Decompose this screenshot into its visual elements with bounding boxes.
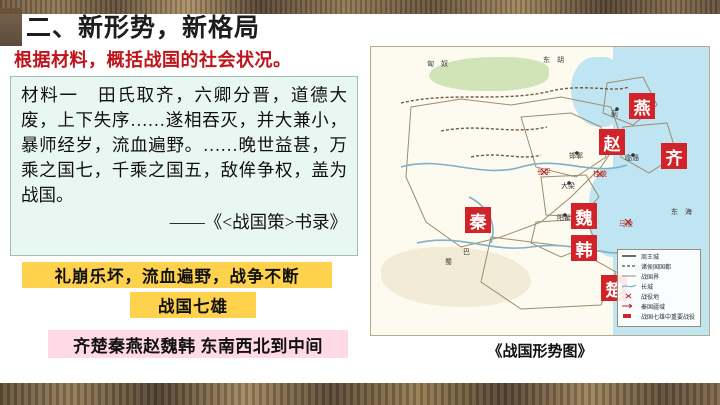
legend-row: 战国界 xyxy=(622,273,696,282)
material-source: ——《<战国策>书录》 xyxy=(21,210,347,235)
legend-label: 周王城 xyxy=(641,254,659,262)
legend-key-box-icon xyxy=(622,313,638,322)
legend-key-wall-icon xyxy=(622,253,638,262)
legend-label: 诸侯国国都 xyxy=(641,264,671,272)
material-box: 材料一 田氏取齐，六卿分晋，道德大废，上下失序……遂相吞灭，并大兼小，暴师经岁，… xyxy=(10,76,358,256)
bottom-decorative-band xyxy=(0,383,720,405)
map-label-linzi: 临淄 xyxy=(625,153,639,163)
map-label-donghu: 东 胡 xyxy=(543,55,564,65)
map-label-xiongnu: 匈 奴 xyxy=(427,59,448,69)
map-state-qi: 齐 xyxy=(661,143,687,169)
map-state-yan: 燕 xyxy=(629,93,655,119)
map-image: 匈 奴 东 胡 蓟 邯郸 临淄 大梁 阳翟 咸阳 郢 马陵 长平 桂陵 东 海 … xyxy=(370,46,710,336)
map-state-wei: 魏 xyxy=(571,203,597,229)
legend-key-cross-icon xyxy=(622,293,638,302)
map-label-yangdi: 阳翟 xyxy=(557,213,571,223)
material-text: 材料一 田氏取齐，六卿分晋，道德大废，上下失序……遂相吞灭，并大兼小，暴师经岁，… xyxy=(21,83,347,208)
legend-row: 诸侯国国都 xyxy=(622,263,696,272)
map-label-guiling: 桂陵 xyxy=(593,169,607,179)
map-state-han: 韩 xyxy=(571,235,597,261)
legend-row: 长城 xyxy=(622,283,696,292)
map-label-changping: 长平 xyxy=(537,167,551,177)
legend-row: 战役地 xyxy=(622,293,696,302)
map-label-shu: 蜀 xyxy=(445,257,452,267)
legend-key-river-icon xyxy=(622,283,638,292)
summary-bar-3: 齐楚秦燕赵魏韩 东南西北到中间 xyxy=(48,330,348,358)
map-state-qin: 秦 xyxy=(465,207,491,233)
map-label-ba: 巴 xyxy=(463,247,470,257)
map-label-ji: 蓟 xyxy=(611,109,618,119)
page-title: 二、新形势，新格局 xyxy=(26,8,260,44)
map-state-zhao: 赵 xyxy=(599,129,625,155)
legend-key-dash-icon xyxy=(622,263,638,272)
legend-row: 周王城 xyxy=(622,253,696,262)
legend-key-line-icon xyxy=(622,273,638,282)
legend-key-arrow-icon xyxy=(622,303,638,312)
question-prompt: 根据材料，概括战国的社会状况。 xyxy=(14,46,292,72)
map-label-daliang: 大梁 xyxy=(561,181,575,191)
legend-row: 秦国疆域 xyxy=(622,303,696,312)
title-ornament xyxy=(0,8,22,46)
summary-bar-2: 战国七雄 xyxy=(130,292,256,318)
map-caption: 《战国形势图》 xyxy=(370,340,710,361)
legend-label: 长城 xyxy=(641,284,653,292)
legend-label: 战役地 xyxy=(641,294,659,302)
map-label-maling: 马陵 xyxy=(619,219,633,229)
map-legend: 周王城 诸侯国国都 战国界 长城 战役地 xyxy=(617,249,701,327)
map-label-donghai: 东 海 xyxy=(671,207,692,217)
legend-label: 战国七雄中重要战役 xyxy=(641,314,695,322)
legend-label: 秦国疆域 xyxy=(641,304,665,312)
legend-row: 战国七雄中重要战役 xyxy=(622,313,696,322)
legend-label: 战国界 xyxy=(641,274,659,282)
summary-bar-1: 礼崩乐坏，流血遍野，战争不断 xyxy=(22,262,332,288)
map-label-handan: 邯郸 xyxy=(569,151,583,161)
